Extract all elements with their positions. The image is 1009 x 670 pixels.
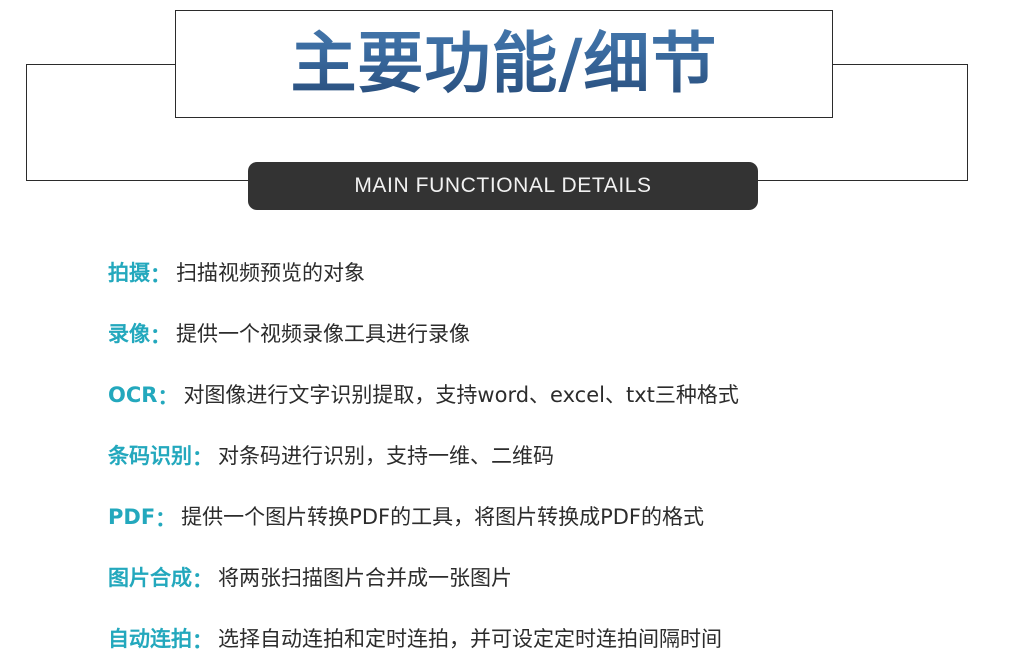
feature-description: 将两张扫描图片合并成一张图片 xyxy=(218,568,512,589)
feature-separator: ： xyxy=(192,625,218,655)
feature-description: 选择自动连拍和定时连拍，并可设定定时连拍间隔时间 xyxy=(218,629,722,650)
feature-description: 对图像进行文字识别提取，支持word、excel、txt三种格式 xyxy=(183,385,738,406)
subtitle-banner-label: MAIN FUNCTIONAL DETAILS xyxy=(354,174,651,198)
feature-description: 提供一个视频录像工具进行录像 xyxy=(176,324,470,345)
header-area: 主要功能/细节 MAIN FUNCTIONAL DETAILS xyxy=(0,0,1009,225)
feature-label: OCR xyxy=(108,385,157,406)
page-title: 主要功能/细节 xyxy=(175,10,833,118)
feature-separator: ： xyxy=(157,381,183,411)
feature-label: 拍摄 xyxy=(108,263,150,284)
feature-separator: ： xyxy=(192,564,218,594)
feature-row: 自动连拍：选择自动连拍和定时连拍，并可设定定时连拍间隔时间 xyxy=(108,609,988,670)
feature-label: PDF xyxy=(108,507,155,528)
feature-list: 拍摄：扫描视频预览的对象录像：提供一个视频录像工具进行录像OCR：对图像进行文字… xyxy=(108,243,988,670)
feature-row: 图片合成：将两张扫描图片合并成一张图片 xyxy=(108,548,988,609)
feature-label: 录像 xyxy=(108,324,150,345)
feature-separator: ： xyxy=(150,259,176,289)
feature-row: 条码识别：对条码进行识别，支持一维、二维码 xyxy=(108,426,988,487)
feature-row: OCR：对图像进行文字识别提取，支持word、excel、txt三种格式 xyxy=(108,365,988,426)
feature-row: 拍摄：扫描视频预览的对象 xyxy=(108,243,988,304)
feature-label: 条码识别 xyxy=(108,446,192,467)
feature-separator: ： xyxy=(155,503,181,533)
feature-separator: ： xyxy=(150,320,176,350)
feature-description: 扫描视频预览的对象 xyxy=(176,263,365,284)
feature-row: PDF：提供一个图片转换PDF的工具，将图片转换成PDF的格式 xyxy=(108,487,988,548)
feature-label: 图片合成 xyxy=(108,568,192,589)
feature-row: 录像：提供一个视频录像工具进行录像 xyxy=(108,304,988,365)
feature-separator: ： xyxy=(192,442,218,472)
feature-description: 提供一个图片转换PDF的工具，将图片转换成PDF的格式 xyxy=(181,507,704,528)
feature-description: 对条码进行识别，支持一维、二维码 xyxy=(218,446,554,467)
feature-label: 自动连拍 xyxy=(108,629,192,650)
subtitle-banner: MAIN FUNCTIONAL DETAILS xyxy=(248,162,758,210)
